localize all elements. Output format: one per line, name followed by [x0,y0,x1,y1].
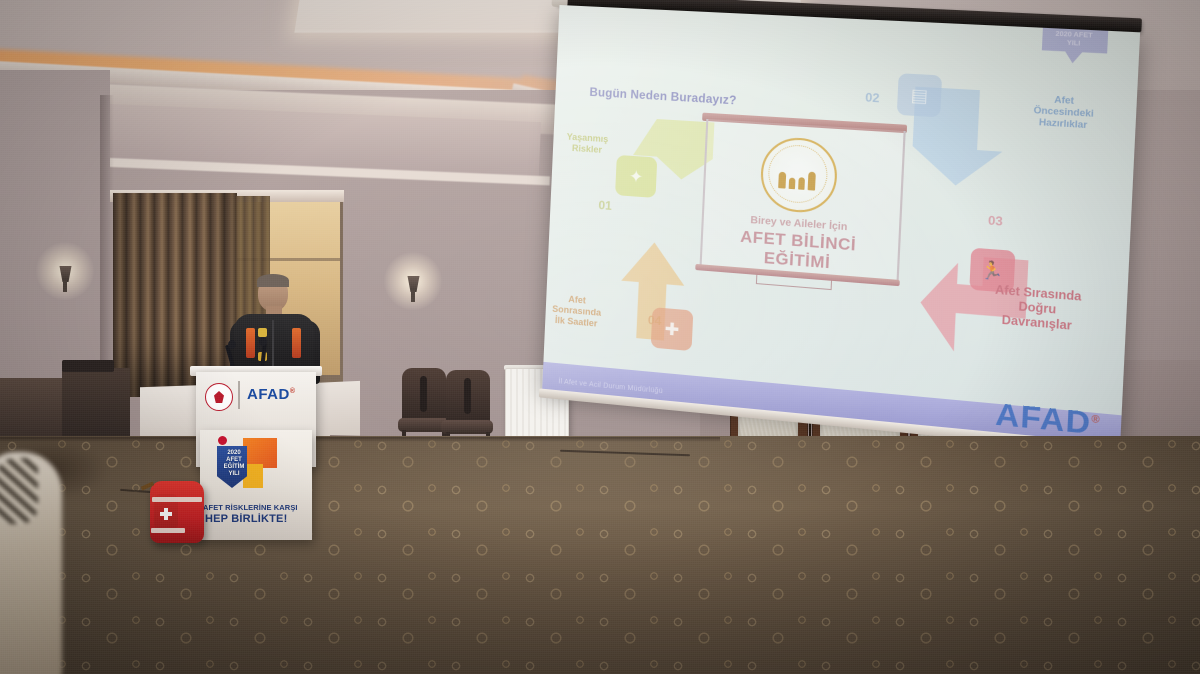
chair-back [402,368,446,420]
microphone-head-right [259,337,267,346]
podium-afad-mark: ® [290,388,296,395]
turkish-republic-emblem [205,383,233,411]
conference-hall-photo: Bugün Neden Buradayız? 2020 AFET YILI ✦ … [0,0,1200,674]
speaker-hair [257,274,289,287]
crest-figure [807,172,815,191]
corner-logo-line3: YILI [1067,39,1081,47]
logo-text: 2020 AFET EĞİTİM YILI [219,450,249,478]
slide-afad-mark: ® [1091,414,1101,427]
equipment-box [62,360,114,372]
cabinet [0,378,66,444]
podium-afad-text: AFAD [247,386,290,403]
foreground-person-pattern [0,458,38,524]
podium-afad-logo: AFAD® [247,386,296,403]
microphone-head-left [228,340,236,349]
podium-logo-divider [238,381,240,409]
exit-run-icon: 🏃 [980,260,1004,280]
step-04-arrow: ✚ [596,238,713,354]
first-aid-icon: ✚ [664,320,679,338]
wall-sconce-light-2 [400,268,426,294]
turkish-flag-icon [218,436,227,445]
step-02-number: 02 [865,90,880,105]
step-01-number: 01 [598,198,612,213]
logo-year: 2020 [227,450,240,456]
logo-line3: YILI [228,471,239,477]
step-02-tile: ▤ [897,73,942,117]
document-icon: ▤ [910,86,928,105]
podium-slogan-line2: HEP BİRLİKTE! [205,513,310,525]
backpack-reflective-strip-bottom [151,528,185,533]
slide-corner-logo-text: 2020 AFET YILI [1049,30,1099,48]
crest-figure [778,172,786,189]
sparkle-icon: ✦ [629,167,644,185]
uniform-stripe-right [292,328,301,358]
uniform-stripe-left [246,328,255,358]
afet-egitim-yili-logo: 2020 AFET EĞİTİM YILI [217,438,279,488]
uniform-badge [258,328,267,337]
crest-figure [788,177,795,189]
logo-line2: EĞİTİM [224,464,245,470]
wall-sconce-light [52,258,78,284]
step-01-label: YaşanmışRiskler [559,131,616,157]
slide-title: Bugün Neden Buradayız? [589,87,737,108]
crest-family-figures [773,157,821,191]
logo-line1: AFET [226,457,242,463]
step-01-tile: ✦ [615,155,657,198]
chair-back [446,370,490,422]
podium-slogan-line1: AFET RİSKLERİNE KARŞI [203,503,313,512]
corner-logo-line1: 2020 AFET [1055,30,1093,39]
sconce-arm [411,290,415,302]
projected-slide: Bugün Neden Buradayız? 2020 AFET YILI ✦ … [542,5,1140,447]
backpack-reflective-strip-top [152,497,202,502]
cabinet-2 [62,368,130,446]
step-02-label: AfetÖncesindekiHazırlıklar [1015,92,1113,133]
crest-figure [798,177,805,190]
first-aid-cross-icon [160,508,172,520]
step-04-label: AfetSonrasındaİlk Saatler [547,292,606,330]
step-01-arrow: ✦ [609,116,715,210]
step-03-number: 03 [988,213,1003,229]
sconce-arm [63,280,67,292]
step-04-number: 04 [648,313,662,328]
carpet-shading [0,436,1200,674]
projection-screen: Bugün Neden Buradayız? 2020 AFET YILI ✦ … [541,0,1140,461]
